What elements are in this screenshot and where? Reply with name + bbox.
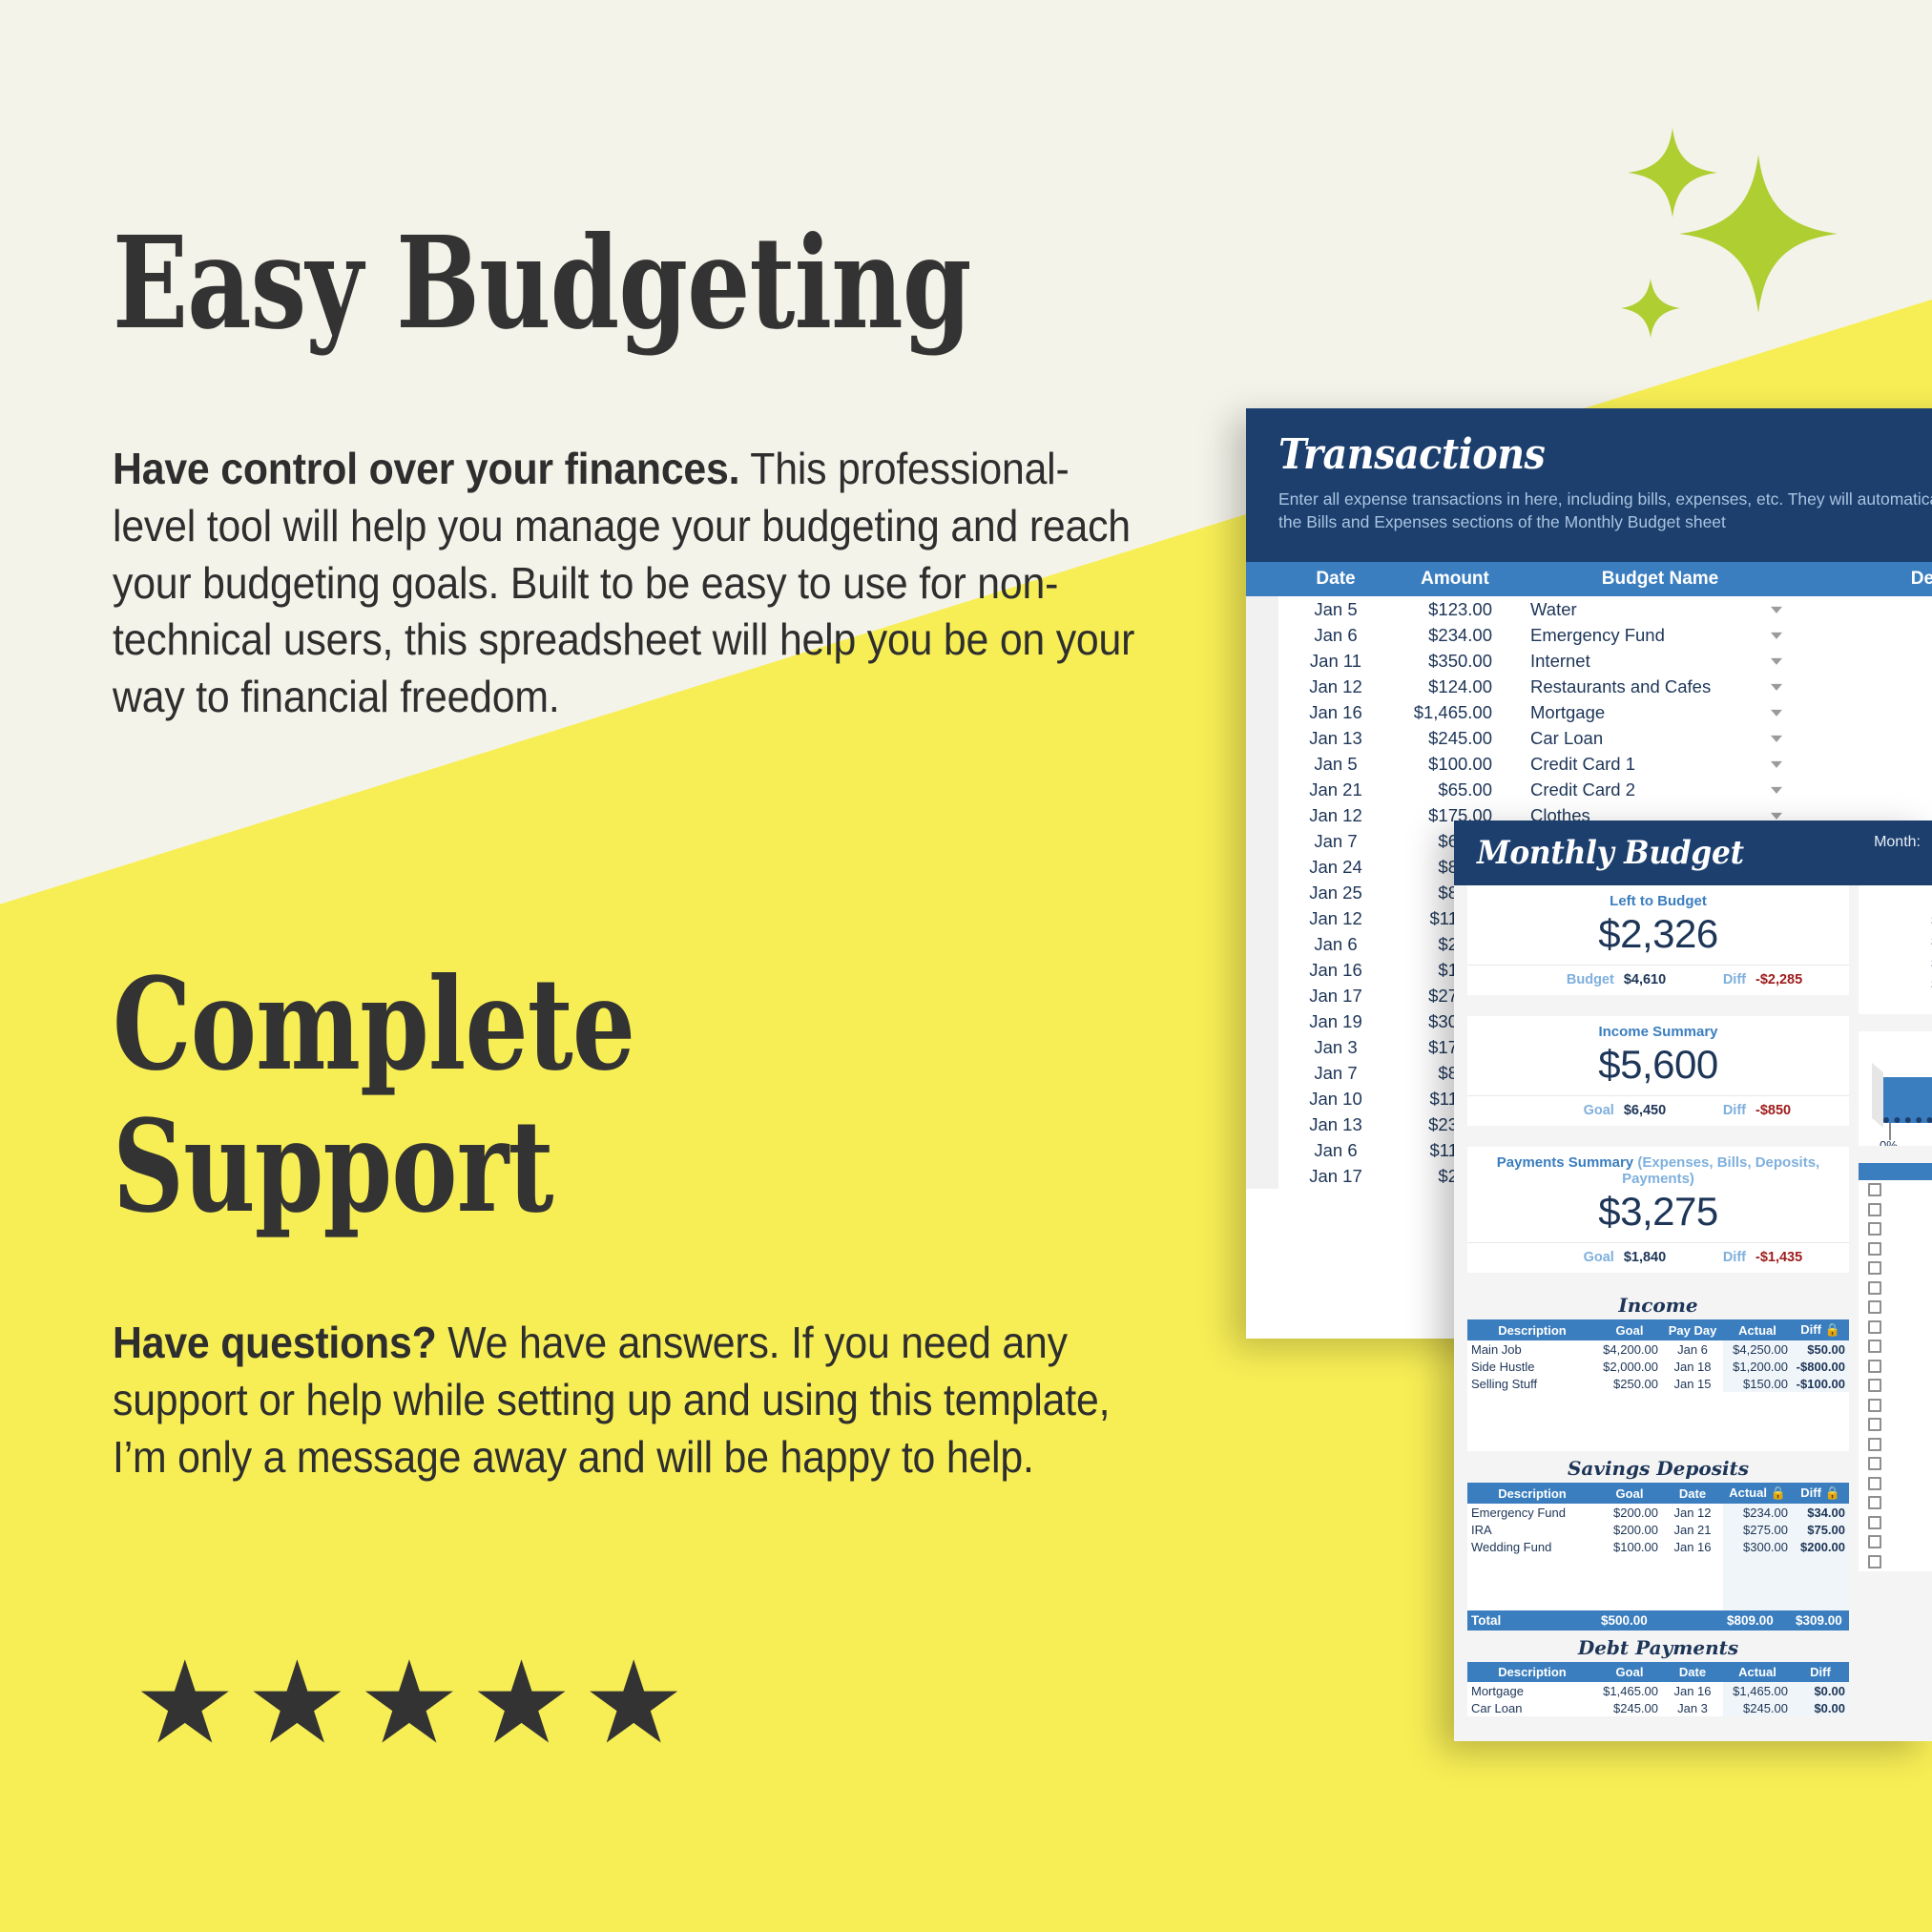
kpi-footer: Goal$1,840Diff-$1,435 — [1467, 1242, 1849, 1273]
list-item[interactable] — [1859, 1454, 1932, 1474]
cell-date[interactable]: Jan 6 — [1278, 1137, 1393, 1163]
kpi-title: Income Summary — [1467, 1016, 1849, 1040]
sparkles-icon — [1591, 114, 1868, 353]
cell-diff[interactable]: $75.00 — [1792, 1521, 1849, 1538]
cell-goal[interactable]: $200.00 — [1597, 1521, 1662, 1538]
income-table: DescriptionGoalPay DayActualDiff 🔒 Main … — [1467, 1319, 1849, 1392]
column-header[interactable]: Actual — [1723, 1662, 1792, 1682]
column-header[interactable]: Actual — [1723, 1319, 1792, 1340]
list-item-label — [1888, 1300, 1891, 1314]
cell-date[interactable]: Jan 5 — [1278, 751, 1393, 777]
cell-date[interactable]: Jan 21 — [1278, 777, 1393, 802]
savings-blank-rows — [1467, 1555, 1849, 1610]
total-label: Total — [1467, 1610, 1597, 1631]
cell-date[interactable]: Jan 10 — [1278, 1086, 1393, 1111]
budget-bar-chart: $8,000$6,000$4,000$2,000$0 — [1859, 885, 1932, 1014]
monthly-budget-side-column: $8,000$6,000$4,000$2,000$0 0% — [1859, 885, 1932, 1571]
checkbox[interactable] — [1868, 1516, 1881, 1529]
checkbox[interactable] — [1868, 1360, 1881, 1373]
cell-description[interactable] — [1803, 699, 1932, 725]
column-header[interactable]: Actual 🔒 — [1723, 1483, 1792, 1504]
checklist-card — [1859, 1163, 1932, 1571]
section-title-income: Income — [1467, 1294, 1849, 1317]
kpi-foot-value: $4,610 — [1624, 972, 1687, 987]
cell-description[interactable] — [1803, 596, 1932, 622]
list-item[interactable] — [1859, 1258, 1932, 1278]
checkbox[interactable] — [1868, 1535, 1881, 1548]
debt-payments-table: DescriptionGoalDateActualDiff Mortgage$1… — [1467, 1662, 1849, 1716]
cell-amount[interactable]: $65.00 — [1393, 777, 1517, 802]
total-diff: $309.00 — [1792, 1610, 1849, 1631]
table-row[interactable]: Selling Stuff$250.00Jan 15$150.00-$100.0… — [1467, 1375, 1849, 1392]
cell-amount[interactable]: $245.00 — [1393, 725, 1517, 751]
chart-y-tick-label: $4,000 — [1859, 953, 1932, 974]
column-header[interactable]: Goal — [1597, 1319, 1662, 1340]
cell-actual[interactable]: $150.00 — [1723, 1375, 1792, 1392]
cell-budget-name[interactable]: Water — [1517, 596, 1803, 622]
cell-description[interactable] — [1803, 648, 1932, 674]
checkbox[interactable] — [1868, 1320, 1881, 1334]
list-item[interactable] — [1859, 1200, 1932, 1220]
monthly-budget-header: Monthly Budget Month: — [1454, 821, 1932, 885]
monthly-budget-main-column: Left to Budget$2,326Budget$4,610Diff-$2,… — [1467, 885, 1849, 1716]
list-item[interactable] — [1859, 1396, 1932, 1416]
list-item-label — [1888, 1261, 1891, 1275]
checkbox[interactable] — [1868, 1340, 1881, 1353]
cell-description[interactable]: Main Job — [1467, 1340, 1597, 1358]
cell-date[interactable]: Jan 13 — [1278, 1111, 1393, 1137]
kpi-value: $3,275 — [1467, 1187, 1849, 1242]
column-header-budget-name[interactable]: Budget Name — [1517, 562, 1803, 596]
kpi-title: Left to Budget — [1467, 885, 1849, 909]
chart-y-axis-ticks: $8,000$6,000$4,000$2,000$0 — [1859, 910, 1932, 1014]
cell-diff[interactable]: $0.00 — [1792, 1699, 1849, 1716]
kpi-footer: Goal$6,450Diff-$850 — [1467, 1095, 1849, 1126]
kpi-footer: Budget$4,610Diff-$2,285 — [1467, 965, 1849, 995]
cell-actual[interactable]: $300.00 — [1723, 1538, 1792, 1555]
gutter-header — [1246, 562, 1278, 596]
chevron-down-icon[interactable] — [1771, 684, 1782, 691]
cell-actual[interactable]: $1,200.00 — [1723, 1358, 1792, 1375]
cell-budget-name[interactable]: Emergency Fund — [1517, 622, 1803, 648]
chart-y-tick-label: $8,000 — [1859, 910, 1932, 931]
list-item[interactable] — [1859, 1532, 1932, 1552]
cell-goal[interactable]: $250.00 — [1597, 1375, 1662, 1392]
cell-description[interactable] — [1803, 777, 1932, 802]
paragraph-1-lead: Have control over your finances. — [113, 444, 739, 493]
cell-description[interactable]: Side Hustle — [1467, 1358, 1597, 1375]
gauge-bar — [1883, 1077, 1932, 1123]
table-row[interactable]: Jan 16$1,465.00Mortgage — [1246, 699, 1932, 725]
kpi-card-list: Left to Budget$2,326Budget$4,610Diff-$2,… — [1467, 885, 1849, 1273]
checkbox[interactable] — [1868, 1438, 1881, 1451]
chevron-down-icon[interactable] — [1771, 658, 1782, 665]
table-row[interactable]: Jan 6$234.00Emergency Fund — [1246, 622, 1932, 648]
list-item[interactable] — [1859, 1435, 1932, 1455]
cell-actual[interactable]: $275.00 — [1723, 1521, 1792, 1538]
cell-date[interactable]: Jan 16 — [1662, 1682, 1723, 1699]
table-row[interactable]: Jan 21$65.00Credit Card 2 — [1246, 777, 1932, 802]
column-header-amount[interactable]: Amount — [1393, 562, 1517, 596]
cell-description[interactable]: Selling Stuff — [1467, 1375, 1597, 1392]
sparkle-decoration — [1591, 114, 1868, 353]
section-title-savings: Savings Deposits — [1467, 1457, 1849, 1480]
table-row[interactable]: Mortgage$1,465.00Jan 16$1,465.00$0.00 — [1467, 1682, 1849, 1699]
kpi-card: Payments Summary (Expenses, Bills, Depos… — [1467, 1147, 1849, 1273]
cell-date[interactable]: Jan 19 — [1278, 1008, 1393, 1034]
table-row[interactable]: Jan 5$100.00Credit Card 1 — [1246, 751, 1932, 777]
cell-goal[interactable]: $245.00 — [1597, 1699, 1662, 1716]
cell-goal[interactable]: $100.00 — [1597, 1538, 1662, 1555]
cell-date[interactable]: Jan 6 — [1278, 622, 1393, 648]
table-row[interactable]: Main Job$4,200.00Jan 6$4,250.00$50.00 — [1467, 1340, 1849, 1358]
table-row[interactable]: Jan 12$124.00Restaurants and Cafes — [1246, 674, 1932, 699]
column-header[interactable]: Pay Day — [1662, 1319, 1723, 1340]
total-date — [1662, 1610, 1723, 1631]
kpi-foot-label: Goal — [1584, 1103, 1614, 1118]
marketing-copy-column: Easy Budgeting Have control over your fi… — [0, 0, 1212, 1932]
checkbox[interactable] — [1868, 1477, 1881, 1490]
cell-budget-name[interactable]: Car Loan — [1517, 725, 1803, 751]
kpi-title: Payments Summary (Expenses, Bills, Depos… — [1467, 1147, 1849, 1187]
cell-date[interactable]: Jan 21 — [1662, 1521, 1723, 1538]
chart-y-tick-label: $2,000 — [1859, 974, 1932, 995]
table-row[interactable]: IRA$200.00Jan 21$275.00$75.00 — [1467, 1521, 1849, 1538]
list-item[interactable] — [1859, 1219, 1932, 1239]
cell-diff[interactable]: -$800.00 — [1792, 1358, 1849, 1375]
column-header-date[interactable]: Date — [1278, 562, 1393, 596]
checkbox[interactable] — [1868, 1261, 1881, 1275]
cell-budget-name[interactable]: Credit Card 1 — [1517, 751, 1803, 777]
cell-budget-name[interactable]: Internet — [1517, 648, 1803, 674]
checklist-header — [1859, 1163, 1932, 1180]
list-item-label — [1888, 1183, 1891, 1196]
savings-table-header-row: DescriptionGoalDateActual 🔒Diff 🔒 — [1467, 1483, 1849, 1504]
checkbox[interactable] — [1868, 1281, 1881, 1295]
debt-table-body: Mortgage$1,465.00Jan 16$1,465.00$0.00Car… — [1467, 1682, 1849, 1716]
column-header[interactable]: Diff 🔒 — [1792, 1319, 1849, 1340]
column-header[interactable]: Description — [1467, 1319, 1597, 1340]
cell-date[interactable]: Jan 12 — [1278, 905, 1393, 931]
chevron-down-icon[interactable] — [1771, 607, 1782, 613]
cell-diff[interactable]: $50.00 — [1792, 1340, 1849, 1358]
cell-date[interactable]: Jan 17 — [1278, 983, 1393, 1008]
cell-description[interactable] — [1803, 751, 1932, 777]
savings-table-body: Emergency Fund$200.00Jan 12$234.00$34.00… — [1467, 1504, 1849, 1555]
cell-actual[interactable]: $1,465.00 — [1723, 1682, 1792, 1699]
cell-budget-name[interactable]: Credit Card 2 — [1517, 777, 1803, 802]
list-item[interactable] — [1859, 1278, 1932, 1298]
monthly-budget-title: Monthly Budget — [1477, 834, 1744, 872]
total-actual: $809.00 — [1723, 1610, 1792, 1631]
column-header[interactable]: Diff — [1792, 1662, 1849, 1682]
transactions-subtitle: Enter all expense transactions in here, … — [1278, 488, 1932, 533]
cell-actual[interactable]: $245.00 — [1723, 1699, 1792, 1716]
kpi-value: $2,326 — [1467, 909, 1849, 965]
cell-date[interactable]: Jan 13 — [1278, 725, 1393, 751]
table-row[interactable]: Jan 11$350.00Internet — [1246, 648, 1932, 674]
cell-date[interactable]: Jan 3 — [1278, 1034, 1393, 1060]
kpi-diff-label: Diff — [1723, 972, 1746, 987]
kpi-diff-value: -$850 — [1755, 1103, 1824, 1118]
table-row[interactable]: Jan 5$123.00Water — [1246, 596, 1932, 622]
paragraph-control-finances: Have control over your finances. This pr… — [113, 441, 1142, 726]
cell-description[interactable] — [1803, 725, 1932, 751]
chevron-down-icon[interactable] — [1771, 787, 1782, 794]
page-title-complete-support: Complete Support — [113, 954, 634, 1238]
cell-date[interactable]: Jan 12 — [1662, 1504, 1723, 1521]
table-row[interactable]: Jan 13$245.00Car Loan — [1246, 725, 1932, 751]
cell-date[interactable]: Jan 16 — [1278, 957, 1393, 983]
star-rating: ★★★★★ — [134, 1646, 695, 1760]
cell-goal[interactable]: $1,465.00 — [1597, 1682, 1662, 1699]
kpi-foot-value: $1,840 — [1624, 1250, 1687, 1265]
income-table-body: Main Job$4,200.00Jan 6$4,250.00$50.00Sid… — [1467, 1340, 1849, 1392]
title-line-2: Support — [113, 1096, 634, 1238]
column-header-description[interactable]: Description — [1803, 562, 1932, 596]
list-item[interactable] — [1859, 1552, 1932, 1572]
chevron-down-icon[interactable] — [1771, 736, 1782, 742]
chart-y-tick-label: $0 — [1859, 995, 1932, 1014]
month-selector-label[interactable]: Month: — [1874, 834, 1921, 851]
list-item-label — [1888, 1203, 1891, 1216]
checklist-rows — [1859, 1180, 1932, 1571]
kpi-value: $5,600 — [1467, 1040, 1849, 1095]
kpi-foot-value: $6,450 — [1624, 1103, 1687, 1118]
list-item[interactable] — [1859, 1493, 1932, 1513]
cell-description[interactable]: Car Loan — [1467, 1699, 1597, 1716]
table-header-row: Date Amount Budget Name Description — [1246, 562, 1932, 596]
list-item[interactable] — [1859, 1298, 1932, 1318]
checkbox[interactable] — [1868, 1203, 1881, 1216]
cell-description[interactable]: IRA — [1467, 1521, 1597, 1538]
page-title-easy-budgeting: Easy Budgeting — [113, 218, 971, 351]
cell-diff[interactable]: -$100.00 — [1792, 1375, 1849, 1392]
cell-date[interactable]: Jan 18 — [1662, 1358, 1723, 1375]
list-item[interactable] — [1859, 1357, 1932, 1377]
savings-total-row: Total$500.00$809.00$309.00 — [1467, 1610, 1849, 1631]
checkbox[interactable] — [1868, 1222, 1881, 1236]
list-item[interactable] — [1859, 1180, 1932, 1200]
cell-date[interactable]: Jan 12 — [1278, 674, 1393, 699]
list-item-label — [1888, 1242, 1891, 1256]
checkbox[interactable] — [1868, 1183, 1881, 1196]
list-item[interactable] — [1859, 1337, 1932, 1357]
paragraph-2-lead: Have questions? — [113, 1318, 437, 1367]
cell-amount[interactable]: $100.00 — [1393, 751, 1517, 777]
income-table-blank-rows — [1467, 1392, 1849, 1451]
cell-date[interactable]: Jan 3 — [1662, 1699, 1723, 1716]
table-row[interactable]: Emergency Fund$200.00Jan 12$234.00$34.00 — [1467, 1504, 1849, 1521]
kpi-card: Income Summary$5,600Goal$6,450Diff-$850 — [1467, 1016, 1849, 1126]
cell-date[interactable]: Jan 7 — [1278, 828, 1393, 854]
kpi-foot-label: Goal — [1584, 1250, 1614, 1265]
total-goal: $500.00 — [1597, 1610, 1662, 1631]
paragraph-support: Have questions? We have answers. If you … — [113, 1315, 1142, 1485]
cell-description[interactable] — [1803, 622, 1932, 648]
kpi-diff-value: -$2,285 — [1755, 972, 1824, 987]
cell-date[interactable]: Jan 16 — [1278, 699, 1393, 725]
debt-table-header-row: DescriptionGoalDateActualDiff — [1467, 1662, 1849, 1682]
list-item[interactable] — [1859, 1318, 1932, 1338]
checkbox[interactable] — [1868, 1496, 1881, 1509]
cell-goal[interactable]: $200.00 — [1597, 1504, 1662, 1521]
monthly-budget-sheet: Monthly Budget Month: Left to Budget$2,3… — [1454, 821, 1932, 1741]
chevron-down-icon[interactable] — [1771, 633, 1782, 639]
column-header[interactable]: Goal — [1597, 1662, 1662, 1682]
cell-goal[interactable]: $2,000.00 — [1597, 1358, 1662, 1375]
cell-date[interactable]: Jan 16 — [1662, 1538, 1723, 1555]
kpi-diff-value: -$1,435 — [1755, 1250, 1824, 1265]
column-header[interactable]: Diff 🔒 — [1792, 1483, 1849, 1504]
column-header[interactable]: Goal — [1597, 1483, 1662, 1504]
cell-date[interactable]: Jan 5 — [1278, 596, 1393, 622]
checkbox[interactable] — [1868, 1418, 1881, 1431]
cell-budget-name[interactable]: Restaurants and Cafes — [1517, 674, 1803, 699]
cell-description[interactable]: Emergency Fund — [1467, 1504, 1597, 1521]
table-row[interactable]: Wedding Fund$100.00Jan 16$300.00$200.00 — [1467, 1538, 1849, 1555]
kpi-card: Left to Budget$2,326Budget$4,610Diff-$2,… — [1467, 885, 1849, 995]
savings-deposits-table: DescriptionGoalDateActual 🔒Diff 🔒 Emerge… — [1467, 1483, 1849, 1631]
cell-diff[interactable]: $200.00 — [1792, 1538, 1849, 1555]
chart-y-tick-label: $6,000 — [1859, 931, 1932, 952]
checkbox[interactable] — [1868, 1555, 1881, 1568]
transactions-header: Transactions Enter all expense transacti… — [1246, 408, 1932, 562]
cell-date[interactable]: Jan 17 — [1278, 1163, 1393, 1189]
cell-date[interactable]: Jan 6 — [1662, 1340, 1723, 1358]
kpi-title-sub: (Expenses, Bills, Deposits, Payments) — [1622, 1154, 1819, 1187]
cell-amount[interactable]: $1,465.00 — [1393, 699, 1517, 725]
cell-date[interactable]: Jan 7 — [1278, 1060, 1393, 1086]
cell-date[interactable]: Jan 12 — [1278, 802, 1393, 828]
checkbox[interactable] — [1868, 1242, 1881, 1256]
checkbox[interactable] — [1868, 1399, 1881, 1412]
cell-date[interactable]: Jan 6 — [1278, 931, 1393, 957]
cell-amount[interactable]: $123.00 — [1393, 596, 1517, 622]
gauge-percent-label: 0% — [1880, 1138, 1898, 1146]
progress-gauge-chart: 0% — [1859, 1031, 1932, 1146]
cell-diff[interactable]: $0.00 — [1792, 1682, 1849, 1699]
savings-total-row-group: Total$500.00$809.00$309.00 — [1467, 1555, 1849, 1631]
chevron-down-icon[interactable] — [1771, 710, 1782, 717]
checkbox[interactable] — [1868, 1300, 1881, 1314]
cell-description[interactable] — [1803, 674, 1932, 699]
list-item-label — [1888, 1222, 1891, 1236]
kpi-diff-label: Diff — [1723, 1250, 1746, 1265]
transactions-table-head: Date Amount Budget Name Description — [1246, 562, 1932, 596]
list-item[interactable] — [1859, 1376, 1932, 1396]
cell-description[interactable]: Mortgage — [1467, 1682, 1597, 1699]
checkbox[interactable] — [1868, 1457, 1881, 1470]
cell-date[interactable]: Jan 25 — [1278, 880, 1393, 905]
cell-budget-name[interactable]: Mortgage — [1517, 699, 1803, 725]
table-row[interactable]: Car Loan$245.00Jan 3$245.00$0.00 — [1467, 1699, 1849, 1716]
cell-date[interactable]: Jan 15 — [1662, 1375, 1723, 1392]
list-item[interactable] — [1859, 1239, 1932, 1259]
transactions-title: Transactions — [1278, 433, 1932, 477]
chevron-down-icon[interactable] — [1771, 813, 1782, 820]
cell-amount[interactable]: $350.00 — [1393, 648, 1517, 674]
cell-amount[interactable]: $124.00 — [1393, 674, 1517, 699]
cell-actual[interactable]: $4,250.00 — [1723, 1340, 1792, 1358]
title-line-1: Complete — [113, 950, 634, 1099]
column-header[interactable]: Date — [1662, 1662, 1723, 1682]
checkbox[interactable] — [1868, 1379, 1881, 1392]
column-header[interactable]: Description — [1467, 1662, 1597, 1682]
cell-goal[interactable]: $4,200.00 — [1597, 1340, 1662, 1358]
column-header[interactable]: Date — [1662, 1483, 1723, 1504]
kpi-foot-label: Budget — [1567, 972, 1614, 987]
cell-diff[interactable]: $34.00 — [1792, 1504, 1849, 1521]
cell-actual[interactable]: $234.00 — [1723, 1504, 1792, 1521]
list-item-label — [1888, 1281, 1891, 1295]
cell-date[interactable]: Jan 11 — [1278, 648, 1393, 674]
income-table-header-row: DescriptionGoalPay DayActualDiff 🔒 — [1467, 1319, 1849, 1340]
cell-amount[interactable]: $234.00 — [1393, 622, 1517, 648]
chevron-down-icon[interactable] — [1771, 761, 1782, 768]
list-item[interactable] — [1859, 1474, 1932, 1494]
cell-description[interactable]: Wedding Fund — [1467, 1538, 1597, 1555]
kpi-diff-label: Diff — [1723, 1103, 1746, 1118]
section-title-debt: Debt Payments — [1467, 1636, 1849, 1659]
table-row[interactable]: Side Hustle$2,000.00Jan 18$1,200.00-$800… — [1467, 1358, 1849, 1375]
column-header[interactable]: Description — [1467, 1483, 1597, 1504]
sheet-row-gutter — [1246, 751, 1278, 1189]
cell-date[interactable]: Jan 24 — [1278, 854, 1393, 880]
list-item[interactable] — [1859, 1513, 1932, 1533]
list-item[interactable] — [1859, 1415, 1932, 1435]
